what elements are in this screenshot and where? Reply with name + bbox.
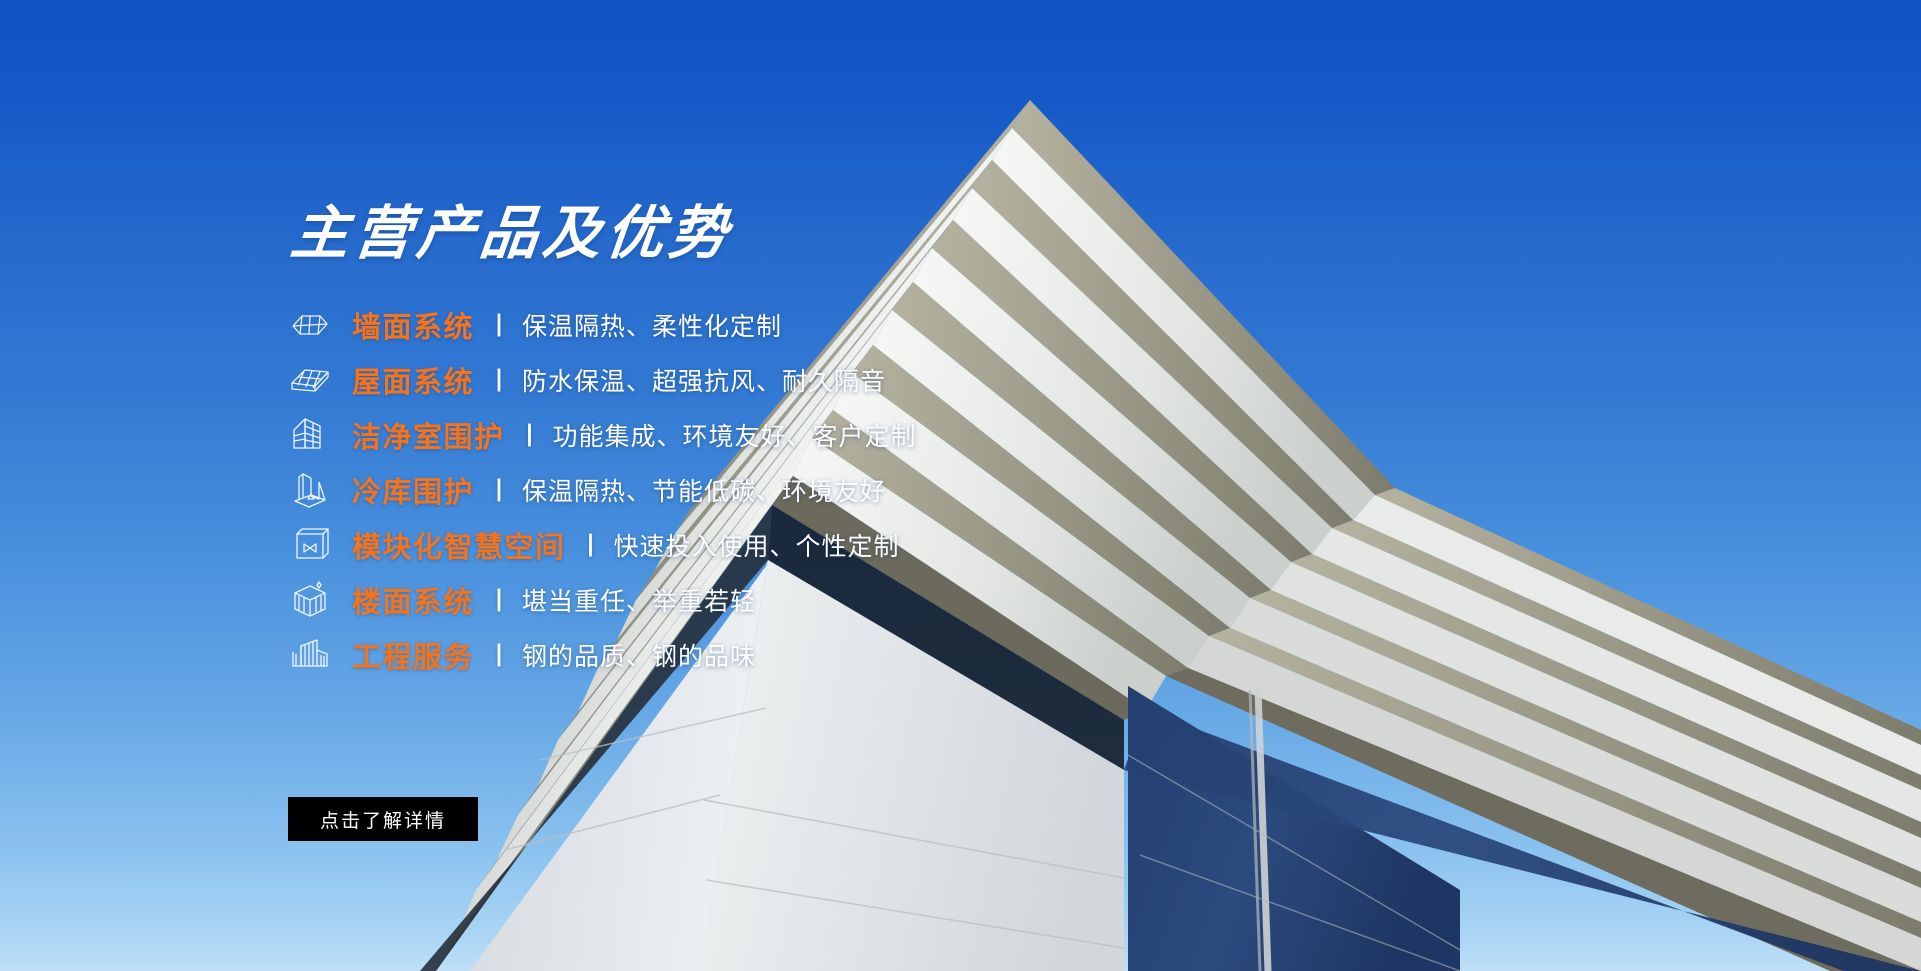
floor-system-icon xyxy=(288,578,332,622)
list-item[interactable]: 洁净室围护 丨 功能集成、环境友好、客户定制 xyxy=(288,407,1238,462)
feature-separator: 丨 xyxy=(487,471,511,506)
feature-separator: 丨 xyxy=(487,636,511,671)
learn-more-button[interactable]: 点击了解详情 xyxy=(288,797,478,841)
feature-title: 屋面系统 xyxy=(352,359,474,401)
modular-space-icon xyxy=(288,523,332,567)
list-item[interactable]: 模块化智慧空间 丨 快速投入使用、个性定制 xyxy=(288,517,1238,572)
feature-separator: 丨 xyxy=(487,306,511,341)
feature-title: 墙面系统 xyxy=(352,304,474,346)
list-item[interactable]: 楼面系统 丨 堪当重任、举重若轻 xyxy=(288,572,1238,627)
feature-description: 防水保温、超强抗风、耐久隔音 xyxy=(522,362,886,398)
cleanroom-icon xyxy=(288,413,332,457)
feature-title: 模块化智慧空间 xyxy=(352,524,566,566)
feature-title: 冷库围护 xyxy=(352,469,474,511)
feature-separator: 丨 xyxy=(518,416,542,451)
engineering-icon xyxy=(288,633,332,677)
feature-description: 保温隔热、柔性化定制 xyxy=(522,307,782,343)
feature-list: 墙面系统 丨 保温隔热、柔性化定制 xyxy=(288,297,1238,682)
building-drainpipe xyxy=(1258,690,1268,971)
building-right-bands xyxy=(1166,488,1921,971)
list-item[interactable]: 工程服务 丨 钢的品质、钢的品味 xyxy=(288,627,1238,682)
wall-system-icon xyxy=(288,303,332,347)
list-item[interactable]: 墙面系统 丨 保温隔热、柔性化定制 xyxy=(288,297,1238,352)
building-right-facade xyxy=(1124,560,1921,971)
feature-description: 保温隔热、节能低碳、环境友好 xyxy=(522,472,886,508)
feature-title: 楼面系统 xyxy=(352,579,474,621)
feature-description: 钢的品质、钢的品味 xyxy=(522,637,756,673)
page-title: 主营产品及优势 xyxy=(288,205,735,263)
product-advantages-banner: 主营产品及优势 墙面系统 丨 保温隔热、柔性化定制 xyxy=(0,0,1921,971)
feature-description: 功能集成、环境友好、客户定制 xyxy=(553,417,917,453)
roof-system-icon xyxy=(288,358,332,402)
feature-separator: 丨 xyxy=(579,526,603,561)
building-blue-panel-upper xyxy=(1124,710,1921,971)
feature-separator: 丨 xyxy=(487,361,511,396)
list-item[interactable]: 冷库围护 丨 保温隔热、节能低碳、环境友好 xyxy=(288,462,1238,517)
feature-separator: 丨 xyxy=(487,581,511,616)
list-item[interactable]: 屋面系统 丨 防水保温、超强抗风、耐久隔音 xyxy=(288,352,1238,407)
coldstorage-icon xyxy=(288,468,332,512)
feature-title: 洁净室围护 xyxy=(352,414,505,456)
feature-description: 堪当重任、举重若轻 xyxy=(522,582,756,618)
feature-description: 快速投入使用、个性定制 xyxy=(614,527,900,563)
feature-title: 工程服务 xyxy=(352,634,474,676)
